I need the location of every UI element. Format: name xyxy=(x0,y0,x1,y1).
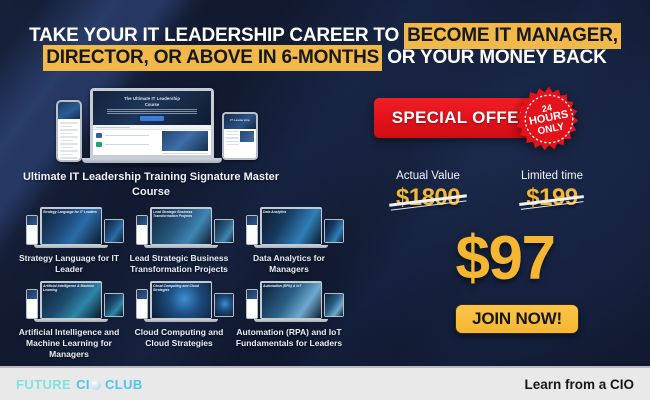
thumb-laptop: Automation (RPA) & IoT xyxy=(260,281,322,319)
24-hours-only-starburst: 24 HOURS ONLY xyxy=(516,86,582,152)
thumb-laptop-screen: Artificial Intelligence & Machine Learni… xyxy=(42,283,101,318)
thumb-laptop-screen: Automation (RPA) & IoT xyxy=(262,283,321,318)
course-title: Cloud Computing and Cloud Strategies xyxy=(124,327,234,349)
thumb-tablet xyxy=(324,219,344,243)
headline-text-plain: OR YOUR MONEY BACK xyxy=(382,47,607,68)
course-thumbnail: Strategy Language for IT Leaders xyxy=(14,205,124,253)
course-title: Strategy Language for IT Leader xyxy=(14,253,124,275)
course-card[interactable]: Strategy Language for IT Leaders Strateg… xyxy=(14,205,124,275)
thumb-tablet xyxy=(214,293,234,317)
thumb-tablet-screen xyxy=(325,294,343,316)
tablet-screen-header: IT Leadership xyxy=(224,114,256,129)
limited-time-amount: $199 xyxy=(526,184,577,212)
special-offer-label: SPECIAL OFFER xyxy=(392,108,532,128)
headline-text-highlight: BECOME IT MANAGER, xyxy=(404,23,621,49)
headline-line-1: TAKE YOUR IT LEADERSHIP CAREER TO BECOME… xyxy=(0,26,650,45)
logo-text-ci: CI xyxy=(76,377,90,392)
headline: TAKE YOUR IT LEADERSHIP CAREER TO BECOME… xyxy=(0,26,650,70)
laptop-screen-list xyxy=(96,132,158,150)
thumb-tablet-screen xyxy=(105,220,123,242)
thumb-phone xyxy=(246,289,258,319)
laptop-screen-toolbar xyxy=(93,125,211,130)
tablet-screen: IT Leadership xyxy=(224,114,256,158)
course-thumbnail: Automation (RPA) & IoT xyxy=(234,279,344,327)
list-item xyxy=(96,132,158,139)
thumb-screen-title: Cloud Computing and Cloud Strategies xyxy=(153,284,209,293)
thumb-tablet-screen xyxy=(215,294,233,316)
thumb-tablet xyxy=(104,293,124,317)
course-title: Automation (RPA) and IoT Fundamentals fo… xyxy=(234,327,344,349)
headline-text-plain: TAKE YOUR IT LEADERSHIP CAREER TO xyxy=(29,25,404,46)
thumb-laptop-base xyxy=(34,319,108,322)
thumb-tablet-screen xyxy=(325,220,343,242)
laptop-screen-title-line2: Course xyxy=(93,102,211,107)
course-grid: Strategy Language for IT Leaders Strateg… xyxy=(14,205,344,360)
final-price: $97 xyxy=(390,228,620,290)
course-thumbnail: Cloud Computing and Cloud Strategies xyxy=(124,279,234,327)
course-card[interactable]: Automation (RPA) & IoT Automation (RPA) … xyxy=(234,279,344,360)
thumb-phone xyxy=(26,289,38,319)
course-thumbnail: Lead Strategic Business Transformation P… xyxy=(124,205,234,253)
thumb-laptop-base xyxy=(34,245,108,248)
list-item xyxy=(96,141,158,148)
actual-value-amount: $1800 xyxy=(396,184,460,212)
thumb-laptop: Artificial Intelligence & Machine Learni… xyxy=(40,281,102,319)
thumb-laptop: Cloud Computing and Cloud Strategies xyxy=(150,281,212,319)
tablet-screen-thumbnail xyxy=(240,131,254,142)
thumb-phone xyxy=(136,289,148,319)
laptop-screen-caption-line xyxy=(162,153,208,154)
headline-line-2: DIRECTOR, OR ABOVE IN 6-MONTHS OR YOUR M… xyxy=(0,48,650,67)
thumb-laptop-screen: Lead Strategic Business Transformation P… xyxy=(152,209,211,244)
thumb-phone xyxy=(26,215,38,245)
laptop-screen: The Ultimate IT Leadership Course xyxy=(93,91,211,155)
laptop-screen-subtext xyxy=(107,109,197,116)
thumb-laptop-base xyxy=(144,319,218,322)
actual-value-label: Actual Value xyxy=(368,170,488,182)
course-card[interactable]: Cloud Computing and Cloud Strategies Clo… xyxy=(124,279,234,360)
tablet-screen-title: IT Leadership xyxy=(224,118,256,122)
thumb-laptop: Lead Strategic Business Transformation P… xyxy=(150,207,212,245)
future-cio-club-logo[interactable]: FUTURE CI CLUB xyxy=(16,377,143,392)
thumb-laptop-base xyxy=(254,319,328,322)
phone-screen-lines xyxy=(60,122,78,160)
course-card[interactable]: Lead Strategic Business Transformation P… xyxy=(124,205,234,275)
course-card[interactable]: Data Analytics Data Analytics for Manage… xyxy=(234,205,344,275)
thumb-phone xyxy=(136,215,148,245)
footer-tagline: Learn from a CIO xyxy=(524,377,634,392)
logo-sphere-icon xyxy=(91,380,101,390)
thumb-laptop: Data Analytics xyxy=(260,207,322,245)
laptop-screen-title-line1: The Ultimate IT Leadership xyxy=(93,96,211,101)
actual-value-block: Actual Value $1800 xyxy=(368,170,488,212)
limited-time-block: Limited time $199 xyxy=(492,170,612,212)
headline-text-highlight: DIRECTOR, OR ABOVE IN 6-MONTHS xyxy=(43,45,382,71)
course-title: Data Analytics for Managers xyxy=(234,253,344,275)
logo-text-club: CLUB xyxy=(105,377,143,392)
device-shadow xyxy=(76,162,236,169)
footer-bar: FUTURE CI CLUB Learn from a CIO xyxy=(0,366,650,400)
course-thumbnail: Data Analytics xyxy=(234,205,344,253)
thumb-laptop-base xyxy=(144,245,218,248)
thumb-screen-title: Lead Strategic Business Transformation P… xyxy=(153,210,209,219)
thumb-screen-title: Automation (RPA) & IoT xyxy=(263,284,319,288)
logo-text-future: FUTURE xyxy=(16,377,71,392)
course-thumbnail: Artificial Intelligence & Machine Learni… xyxy=(14,279,124,327)
promo-banner: TAKE YOUR IT LEADERSHIP CAREER TO BECOME… xyxy=(0,0,650,400)
thumb-screen-title: Artificial Intelligence & Machine Learni… xyxy=(43,284,99,293)
special-offer-group: SPECIAL OFFER 24 HOURS ONLY xyxy=(374,98,549,138)
thumb-tablet xyxy=(104,219,124,243)
thumb-tablet-screen xyxy=(105,294,123,316)
thumb-screen-title: Data Analytics xyxy=(263,210,319,214)
laptop-base xyxy=(82,158,222,163)
hero-caption: Ultimate IT Leadership Training Signatur… xyxy=(14,170,288,200)
join-now-label: JOIN NOW! xyxy=(472,309,562,329)
thumb-tablet xyxy=(214,219,234,243)
course-title: Lead Strategic Business Transformation P… xyxy=(124,253,234,275)
thumb-laptop: Strategy Language for IT Leaders xyxy=(40,207,102,245)
thumb-tablet-screen xyxy=(215,220,233,242)
thumb-laptop-base xyxy=(254,245,328,248)
laptop-screen-thumbnail xyxy=(162,131,208,151)
join-now-button[interactable]: JOIN NOW! xyxy=(455,304,579,334)
thumb-laptop-screen: Cloud Computing and Cloud Strategies xyxy=(152,283,211,318)
phone-screen-header xyxy=(58,102,80,119)
thumb-tablet xyxy=(324,293,344,317)
laptop-screen-hero: The Ultimate IT Leadership Course xyxy=(93,91,211,125)
laptop-screen-cta-button xyxy=(140,116,164,121)
course-title: Artificial Intelligence and Machine Lear… xyxy=(14,327,124,360)
hero-device-mockup: The Ultimate IT Leadership Course IT Lea… xyxy=(42,86,260,166)
phone-screen xyxy=(58,102,80,160)
thumb-laptop-screen: Data Analytics xyxy=(262,209,321,244)
course-card[interactable]: Artificial Intelligence & Machine Learni… xyxy=(14,279,124,360)
thumb-screen-title: Strategy Language for IT Leaders xyxy=(43,210,99,214)
thumb-laptop-screen: Strategy Language for IT Leaders xyxy=(42,209,101,244)
tablet-screen-rows xyxy=(226,131,239,147)
thumb-phone xyxy=(246,215,258,245)
limited-time-label: Limited time xyxy=(492,170,612,182)
starburst-text: 24 HOURS ONLY xyxy=(510,80,587,157)
